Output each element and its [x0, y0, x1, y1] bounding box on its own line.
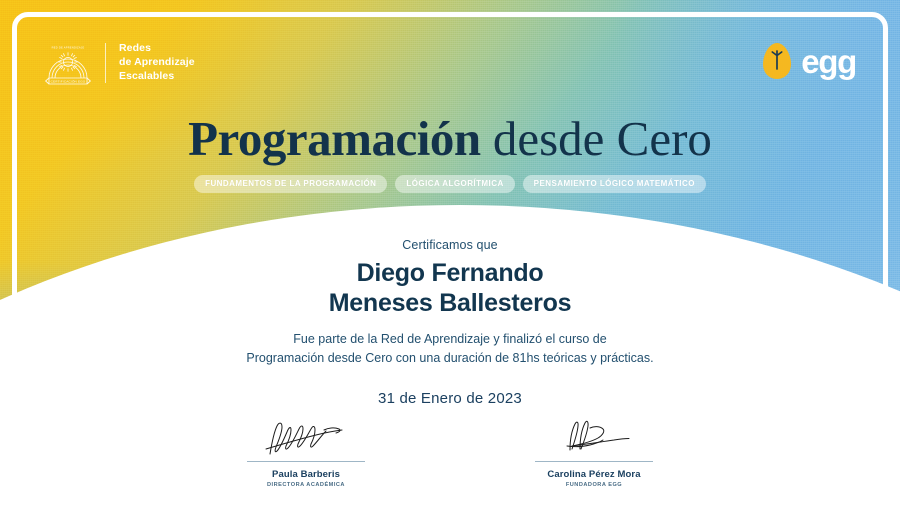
certificate-header: CERTIFICACIÓN EGG RED DE APRENDIZAJE Red… [0, 0, 900, 110]
brand-lockup: CERTIFICACIÓN EGG RED DE APRENDIZAJE Red… [44, 40, 195, 86]
handwritten-signature [226, 416, 386, 458]
handwritten-signature [514, 416, 674, 458]
signature-rule [247, 461, 365, 462]
topic-tag-list: FUNDAMENTOS DE LA PROGRAMACIÓN LÓGICA AL… [0, 175, 900, 193]
topic-tag: PENSAMIENTO LÓGICO MATEMÁTICO [523, 175, 706, 193]
svg-text:CERTIFICACIÓN EGG: CERTIFICACIÓN EGG [51, 79, 86, 84]
signatory-name: Paula Barberis [226, 469, 386, 480]
certificate-body: Certificamos que Diego Fernando Meneses … [0, 238, 900, 407]
signatory-name: Carolina Pérez Mora [514, 469, 674, 480]
course-description: Fue parte de la Red de Aprendizaje y fin… [0, 330, 900, 368]
brand-divider [105, 43, 106, 83]
certification-seal-icon: CERTIFICACIÓN EGG RED DE APRENDIZAJE [44, 40, 92, 86]
topic-tag: LÓGICA ALGORÍTMICA [395, 175, 514, 193]
issue-date: 31 de Enero de 2023 [0, 390, 900, 407]
signature-block: Carolina Pérez Mora FUNDADORA EGG [514, 416, 674, 488]
egg-wordmark: egg [801, 45, 856, 78]
egg-logo: egg [762, 42, 856, 80]
certificate: CERTIFICACIÓN EGG RED DE APRENDIZAJE Red… [0, 0, 900, 506]
topic-tag: FUNDAMENTOS DE LA PROGRAMACIÓN [194, 175, 387, 193]
recipient-name: Diego Fernando Meneses Ballesteros [0, 258, 900, 318]
svg-text:RED DE APRENDIZAJE: RED DE APRENDIZAJE [52, 46, 85, 50]
course-title: Programación desde Cero [0, 113, 900, 166]
signature-section: Paula Barberis DIRECTORA ACADÉMICA Carol… [0, 416, 900, 488]
brand-name: Redes de Aprendizaje Escalables [119, 42, 195, 84]
signatory-role: DIRECTORA ACADÉMICA [226, 482, 386, 488]
signature-block: Paula Barberis DIRECTORA ACADÉMICA [226, 416, 386, 488]
title-section: Programación desde Cero FUNDAMENTOS DE L… [0, 113, 900, 193]
signature-rule [535, 461, 653, 462]
egg-icon [762, 42, 792, 80]
certify-line: Certificamos que [0, 238, 900, 252]
course-title-light: desde Cero [481, 111, 712, 166]
course-title-bold: Programación [188, 111, 480, 166]
signatory-role: FUNDADORA EGG [514, 482, 674, 488]
